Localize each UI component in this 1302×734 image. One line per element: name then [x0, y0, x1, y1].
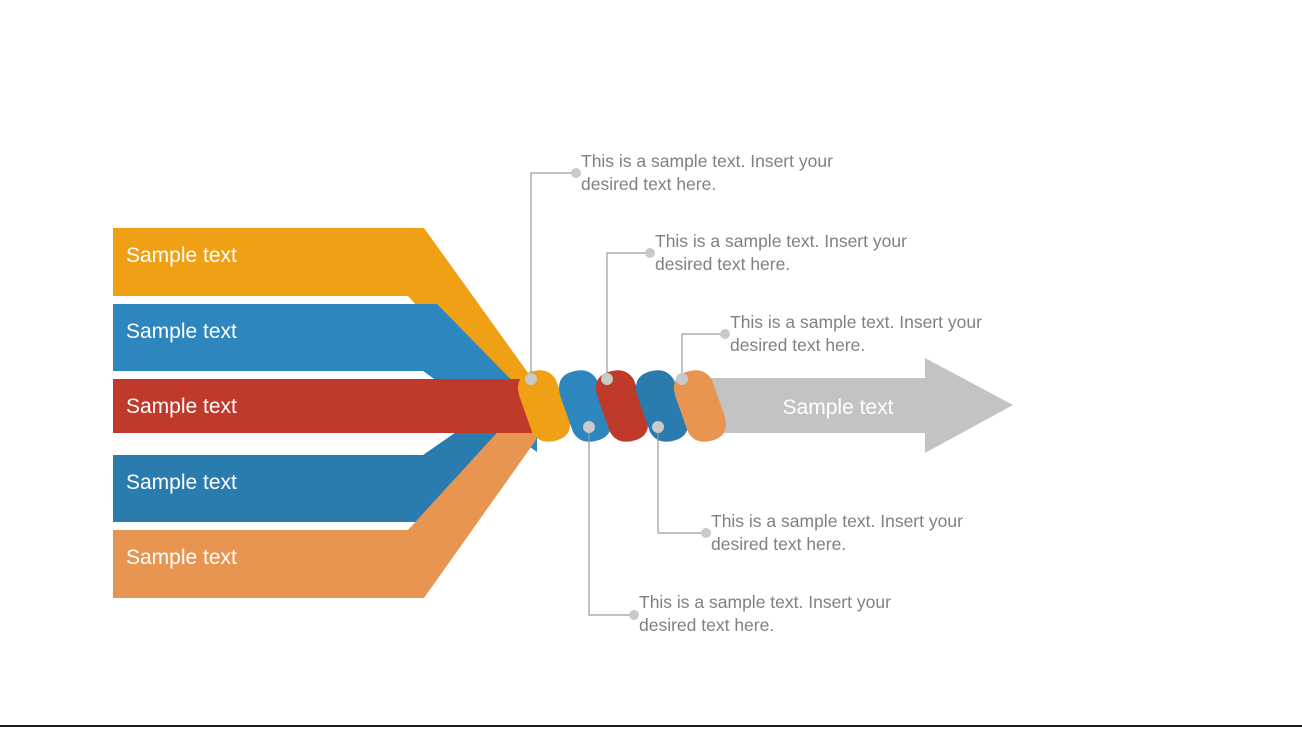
leader-dot-end-3 [720, 329, 730, 339]
leader-dot-origin-2 [601, 373, 613, 385]
leader-line-5 [589, 432, 634, 615]
leader-line-4 [658, 432, 706, 533]
leader-dot-end-4 [701, 528, 711, 538]
leader-line-1 [531, 173, 576, 378]
bar-3-label: Sample text [126, 395, 237, 418]
leader-dot-origin-1 [525, 373, 537, 385]
twist-segments-group [518, 370, 726, 442]
bar-3[interactable]: Sample text [113, 379, 545, 433]
slide-canvas: Sample text Sample text Sample text Samp… [0, 0, 1302, 734]
converging-bars-group: Sample text Sample text Sample text Samp… [113, 228, 545, 598]
callout-2[interactable]: This is a sample text. Insert your desir… [655, 230, 907, 276]
leader-dot-origin-5 [583, 421, 595, 433]
leader-dot-origin-3 [676, 373, 688, 385]
leader-line-2 [607, 253, 650, 378]
callout-3[interactable]: This is a sample text. Insert your desir… [730, 311, 982, 357]
outcome-arrow-label: Sample text [783, 396, 894, 419]
bar-1-label: Sample text [126, 244, 237, 267]
callout-1[interactable]: This is a sample text. Insert your desir… [581, 150, 833, 196]
callout-4[interactable]: This is a sample text. Insert your desir… [711, 510, 963, 556]
leader-dot-origin-4 [652, 421, 664, 433]
outcome-arrow[interactable]: Sample text [690, 358, 1013, 453]
bar-2-label: Sample text [126, 320, 237, 343]
footer-rule [0, 725, 1302, 727]
leader-dot-end-5 [629, 610, 639, 620]
bar-5-label: Sample text [126, 546, 237, 569]
leader-dot-end-1 [571, 168, 581, 178]
leader-dot-end-2 [645, 248, 655, 258]
callout-5[interactable]: This is a sample text. Insert your desir… [639, 591, 891, 637]
bar-4-label: Sample text [126, 471, 237, 494]
